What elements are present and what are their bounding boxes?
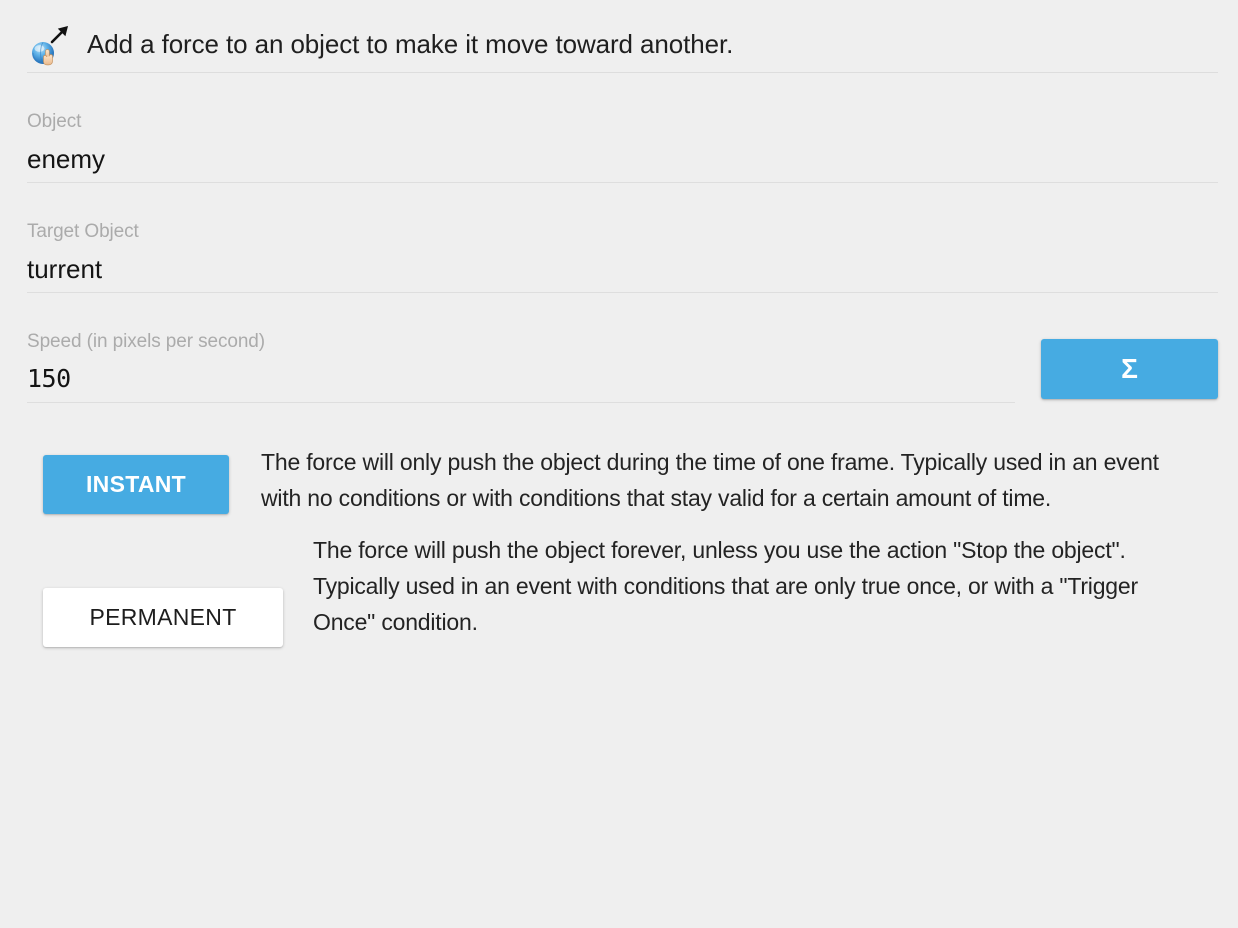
object-input[interactable]: enemy [27, 133, 1218, 182]
target-object-input[interactable]: turrent [27, 243, 1218, 292]
permanent-description: The force will push the object forever, … [313, 532, 1193, 640]
speed-input[interactable]: 150 [27, 353, 1015, 402]
page-title: Add a force to an object to make it move… [87, 29, 733, 59]
field-speed: Speed (in pixels per second) 150 [27, 293, 1015, 403]
mode-option-instant: INSTANT The force will only push the obj… [0, 455, 1238, 516]
force-mode-options: INSTANT The force will only push the obj… [0, 455, 1238, 647]
field-object-label: Object [27, 111, 1218, 133]
force-toward-object-icon [27, 23, 71, 67]
sigma-button[interactable]: Σ [1041, 339, 1218, 399]
permanent-button[interactable]: PERMANENT [43, 588, 283, 647]
speed-row: Speed (in pixels per second) 150 Σ [0, 293, 1238, 403]
field-speed-label: Speed (in pixels per second) [27, 331, 1015, 353]
add-force-toward-object-dialog: Add a force to an object to make it move… [0, 0, 1238, 928]
speed-input-underline [27, 402, 1015, 403]
instant-description: The force will only push the object duri… [261, 444, 1201, 516]
field-target-object: Target Object turrent [27, 183, 1218, 293]
mode-option-permanent: PERMANENT The force will push the object… [0, 588, 1238, 647]
field-target-object-label: Target Object [27, 221, 1218, 243]
dialog-header: Add a force to an object to make it move… [0, 0, 1238, 72]
instant-button[interactable]: INSTANT [43, 455, 229, 514]
field-object: Object enemy [27, 73, 1218, 183]
